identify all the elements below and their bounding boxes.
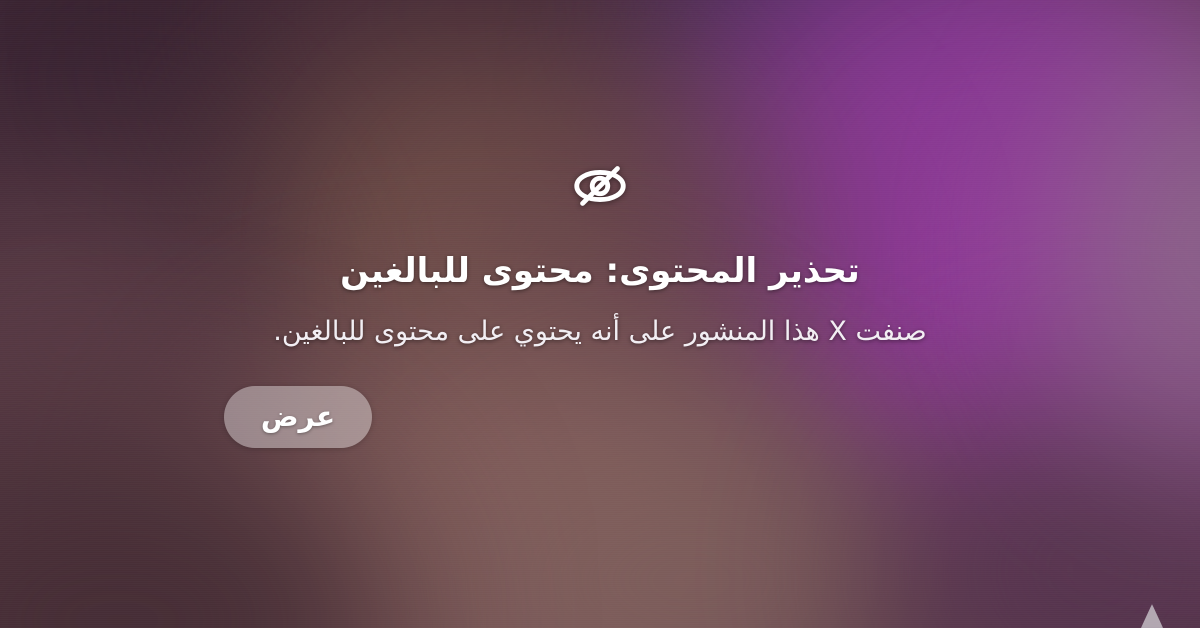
content-warning-screen: تحذير المحتوى: محتوى للبالغين صنفت X هذا… [0, 0, 1200, 628]
warning-description: صنفت X هذا المنشور على أنه يحتوي على محت… [273, 314, 926, 350]
action-row: عرض [0, 386, 898, 448]
content-warning-overlay: تحذير المحتوى: محتوى للبالغين صنفت X هذا… [0, 0, 1200, 628]
eye-off-icon [569, 155, 631, 217]
view-button[interactable]: عرض [224, 386, 372, 448]
page-title: تحذير المحتوى: محتوى للبالغين [340, 251, 860, 292]
